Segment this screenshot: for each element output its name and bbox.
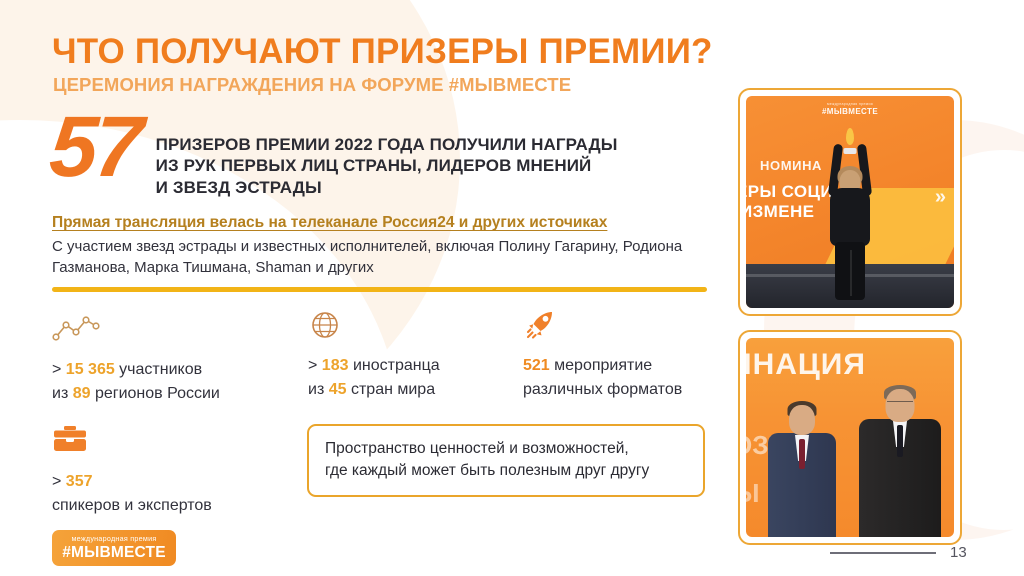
globe-icon: [308, 308, 440, 342]
broadcast-description: С участием звезд эстрады и известных исп…: [52, 236, 712, 279]
photo-award-ceremony-top: международная премия #МЫВМЕСТЕ НОМИНА ЕР…: [738, 88, 962, 316]
page-number-rule: [830, 552, 936, 554]
quote-line-1: Пространство ценностей и возможностей,: [325, 438, 687, 460]
page-subtitle: ЦЕРЕМОНИЯ НАГРАЖДЕНИЯ НА ФОРУМЕ #МЫВМЕСТ…: [53, 74, 571, 96]
line-chart-icon: [52, 312, 220, 346]
brand-logo-badge: международная премия #МЫВМЕСТЕ: [52, 530, 176, 566]
page-title: ЧТО ПОЛУЧАЮТ ПРИЗЕРЫ ПРЕМИИ?: [52, 32, 713, 72]
brand-logo-tagline: международная премия: [71, 535, 156, 542]
stat-events-line-1: 521 мероприятие: [523, 354, 682, 378]
man-right-figure: [856, 385, 944, 537]
backdrop-text-line-2: ИЗМЕНЕ: [746, 202, 814, 222]
stat-foreigners-line-1: > 183 иностранца: [308, 354, 440, 378]
stat-speakers-line-2: спикеров и экспертов: [52, 494, 212, 518]
backdrop-chevron-icon: »: [935, 186, 946, 209]
rocket-icon: [523, 308, 682, 342]
briefcase-icon: [52, 424, 212, 458]
stage-backdrop-top: международная премия #МЫВМЕСТЕ НОМИНА ЕР…: [746, 96, 954, 308]
stat-events: 521 мероприятие различных форматов: [523, 308, 682, 402]
section-divider: [52, 287, 707, 292]
backdrop-nomination-word-bottom: ИНАЦИЯ: [746, 348, 866, 382]
broadcast-headline-link[interactable]: Прямая трансляция велась на телеканале Р…: [52, 214, 607, 232]
backdrop-logo-top: международная премия #МЫВМЕСТЕ: [822, 102, 878, 118]
trophy-icon: [844, 128, 856, 154]
page-number: 13: [950, 544, 967, 561]
award-winner-figure: [819, 126, 881, 302]
man-left-figure: [764, 397, 840, 537]
hero-stat-block: 57 ПРИЗЕРОВ ПРЕМИИ 2022 ГОДА ПОЛУЧИЛИ НА…: [50, 110, 618, 198]
stage-backdrop-bottom: ИНАЦИЯ ОЗМО Ы: [746, 338, 954, 537]
stat-speakers-line-1: > 357: [52, 470, 212, 494]
slide-root: ЧТО ПОЛУЧАЮТ ПРИЗЕРЫ ПРЕМИИ? ЦЕРЕМОНИЯ Н…: [0, 0, 1024, 576]
hero-description-line-2: ИЗ РУК ПЕРВЫХ ЛИЦ СТРАНЫ, ЛИДЕРОВ МНЕНИЙ: [156, 155, 618, 176]
stat-participants: > 15 365 участников из 89 регионов Росси…: [52, 312, 220, 406]
brand-logo-name: #МЫВМЕСТЕ: [62, 545, 166, 561]
hero-number: 57: [48, 112, 143, 183]
stat-speakers: > 357 спикеров и экспертов: [52, 424, 212, 518]
stat-participants-line-2: из 89 регионов России: [52, 382, 220, 406]
stat-foreigners: > 183 иностранца из 45 стран мира: [308, 308, 440, 402]
stat-events-line-2: различных форматов: [523, 378, 682, 402]
stat-foreigners-line-2: из 45 стран мира: [308, 378, 440, 402]
photo-award-ceremony-bottom: ИНАЦИЯ ОЗМО Ы: [738, 330, 962, 545]
glasses-icon: [887, 401, 913, 409]
backdrop-nomination-word: НОМИНА: [760, 158, 822, 173]
stat-participants-line-1: > 15 365 участников: [52, 358, 220, 382]
quote-line-2: где каждый может быть полезным друг друг…: [325, 460, 687, 482]
hero-description-line-3: И ЗВЕЗД ЭСТРАДЫ: [156, 177, 618, 198]
backdrop-text-tertiary: Ы: [746, 478, 759, 509]
quote-box: Пространство ценностей и возможностей, г…: [307, 424, 705, 497]
hero-description: ПРИЗЕРОВ ПРЕМИИ 2022 ГОДА ПОЛУЧИЛИ НАГРА…: [156, 134, 618, 198]
hero-description-line-1: ПРИЗЕРОВ ПРЕМИИ 2022 ГОДА ПОЛУЧИЛИ НАГРА…: [156, 134, 618, 155]
